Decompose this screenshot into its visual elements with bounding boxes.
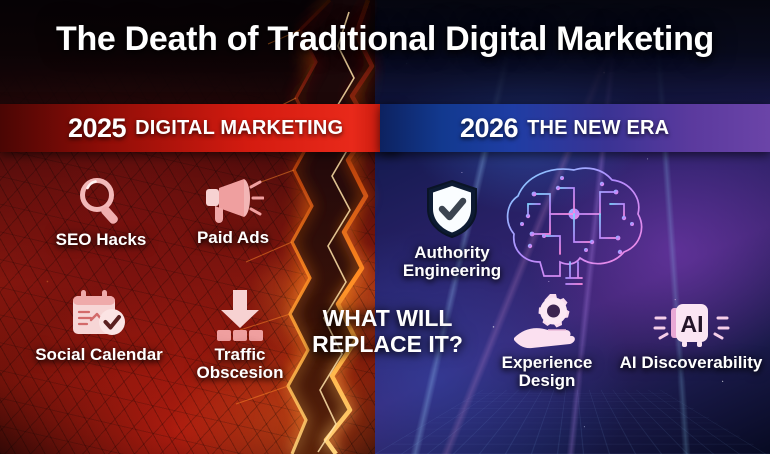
banner-year-2025: 2025 [68, 113, 126, 144]
banner-2025: 2025 DIGITAL MARKETING [0, 104, 400, 152]
feature-traffic-obsession: Traffic Obscesion [180, 288, 300, 382]
feature-label: SEO Hacks [36, 231, 166, 249]
svg-text:AI: AI [681, 311, 704, 337]
banner-subtitle-2025: DIGITAL MARKETING [135, 117, 343, 140]
hand-gear-icon [510, 292, 584, 350]
feature-social-calendar: Social Calendar [16, 288, 182, 364]
page-title: The Death of Traditional Digital Marketi… [0, 20, 770, 59]
infographic-canvas: The Death of Traditional Digital Marketi… [0, 0, 770, 454]
feature-paid-ads: Paid Ads [168, 175, 298, 247]
banner-year-2026: 2026 [460, 113, 518, 144]
feature-label: Paid Ads [168, 229, 298, 247]
download-arrow-icon [213, 288, 267, 342]
feature-seo-hacks: SEO Hacks [36, 175, 166, 249]
calendar-check-icon [69, 288, 129, 342]
feature-authority-engineering: Authority Engineering [393, 178, 511, 280]
magnifying-glass-icon [73, 175, 129, 227]
circuit-brain-icon [490, 158, 658, 290]
feature-ai-discoverability: AI AI Discoverability [612, 300, 770, 372]
feature-experience-design: Experience Design [482, 292, 612, 390]
feature-label: Authority Engineering [393, 244, 511, 280]
feature-label: Experience Design [482, 354, 612, 390]
feature-label: Social Calendar [16, 346, 182, 364]
ai-chip-icon: AI [652, 300, 730, 350]
megaphone-icon [202, 175, 264, 225]
center-question-text: WHAT WILL REPLACE IT? [305, 305, 470, 357]
feature-label: Traffic Obscesion [180, 346, 300, 382]
shield-check-icon [423, 178, 481, 240]
feature-label: AI Discoverability [612, 354, 770, 372]
banner-2026: 2026 THE NEW ERA [380, 104, 770, 152]
banner-subtitle-2026: THE NEW ERA [527, 117, 669, 140]
